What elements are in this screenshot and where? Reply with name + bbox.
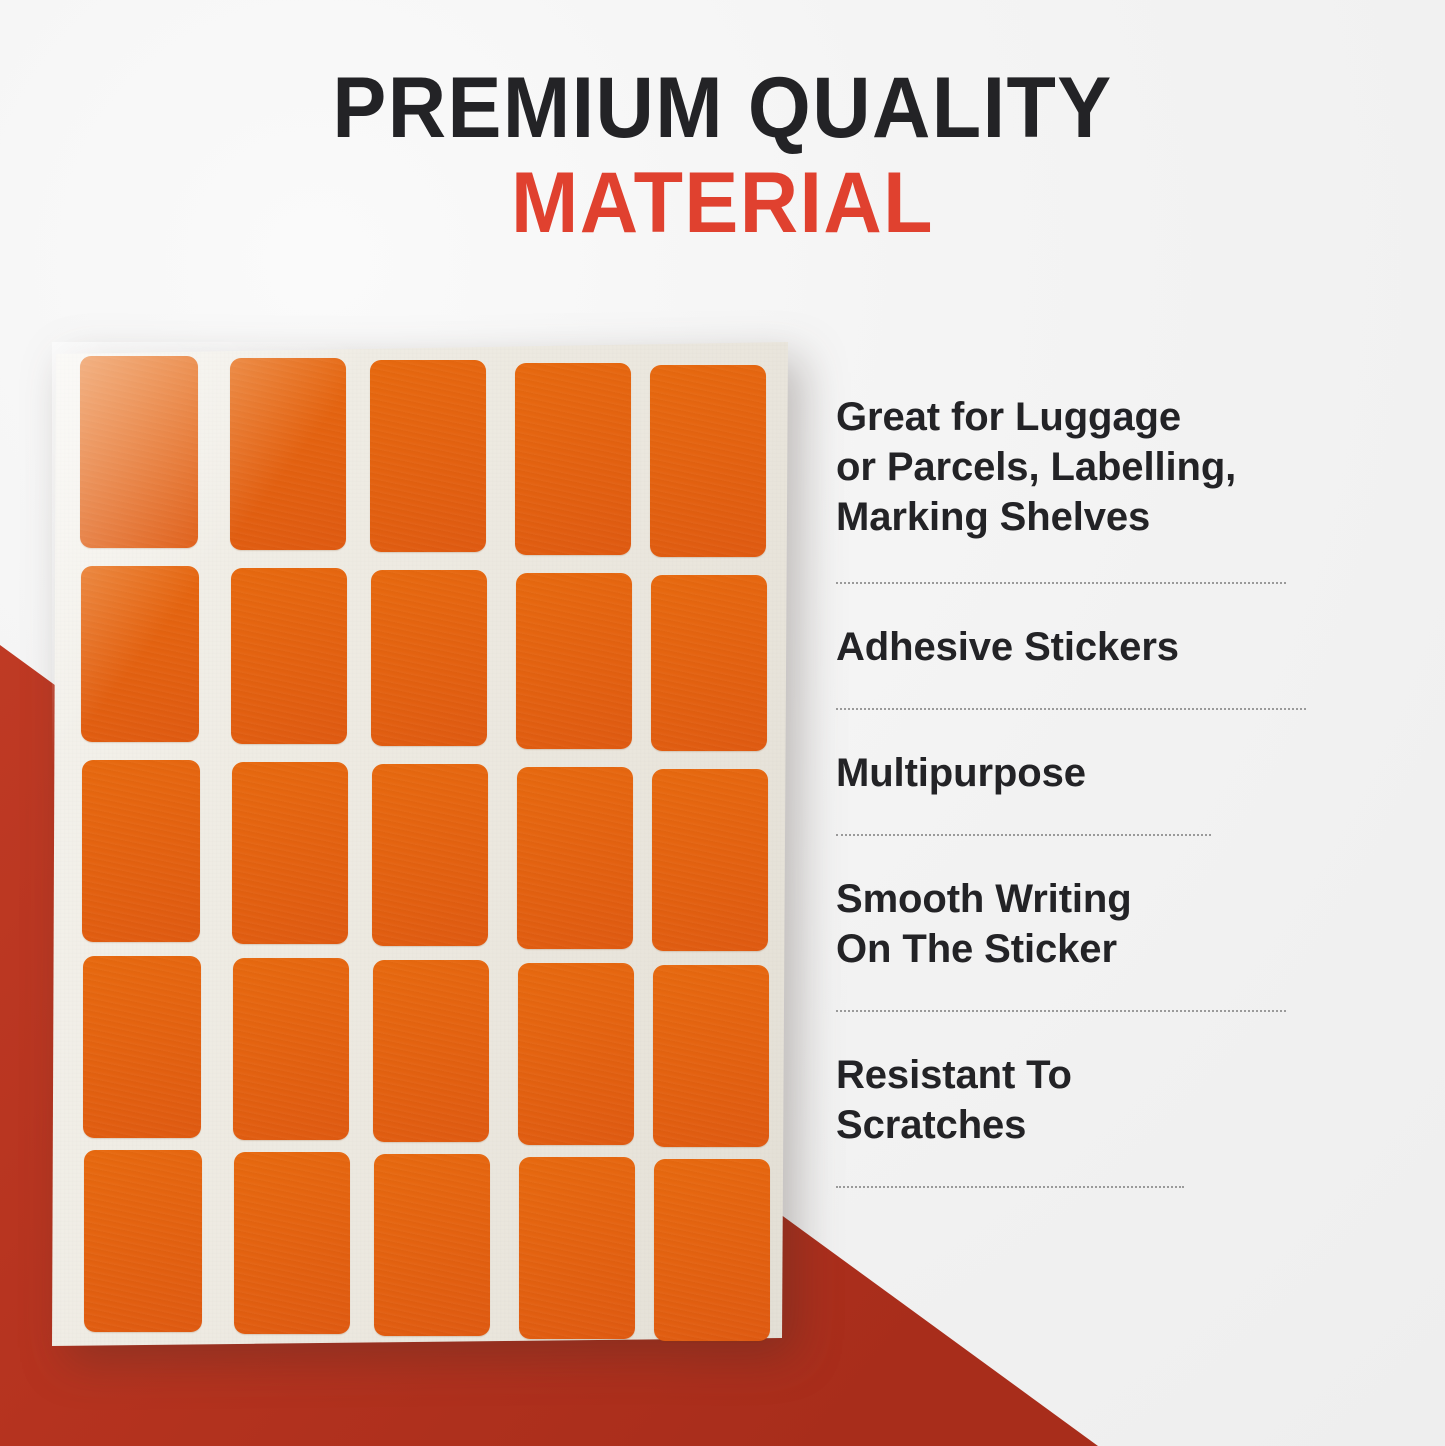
feature-item: Smooth Writing On The Sticker <box>836 874 1416 1012</box>
feature-label: Great for Luggage or Parcels, Labelling,… <box>836 392 1416 542</box>
sticker-label <box>230 358 346 550</box>
feature-item: Adhesive Stickers <box>836 622 1416 710</box>
sticker-label <box>371 570 487 746</box>
sticker-label <box>651 575 767 751</box>
sticker-sheet-photo <box>52 342 792 1346</box>
feature-label: Smooth Writing On The Sticker <box>836 874 1416 974</box>
sticker-label <box>516 573 632 749</box>
feature-list: Great for Luggage or Parcels, Labelling,… <box>836 392 1416 1226</box>
sticker-label <box>373 960 489 1142</box>
feature-label: Multipurpose <box>836 748 1416 798</box>
feature-item: Multipurpose <box>836 748 1416 836</box>
sticker-label <box>82 760 200 942</box>
feature-separator <box>836 708 1306 710</box>
sticker-label <box>83 956 201 1138</box>
feature-separator <box>836 1186 1184 1188</box>
sticker-label <box>234 1152 350 1334</box>
infographic-canvas: PREMIUM QUALITY MATERIAL Great for Lugga… <box>0 0 1445 1446</box>
sticker-label <box>84 1150 202 1332</box>
sticker-label <box>80 356 198 548</box>
sticker-label <box>515 363 631 555</box>
feature-item: Great for Luggage or Parcels, Labelling,… <box>836 392 1416 584</box>
sticker-label <box>653 965 769 1147</box>
page-title: PREMIUM QUALITY MATERIAL <box>0 60 1445 250</box>
sticker-label <box>652 769 768 951</box>
sticker-label <box>517 767 633 949</box>
feature-separator <box>836 834 1211 836</box>
feature-label: Resistant To Scratches <box>836 1050 1416 1150</box>
sticker-label <box>372 764 488 946</box>
sticker-label <box>650 365 766 557</box>
feature-label: Adhesive Stickers <box>836 622 1416 672</box>
sticker-grid <box>52 342 792 1346</box>
sticker-label <box>654 1159 770 1341</box>
feature-item: Resistant To Scratches <box>836 1050 1416 1188</box>
sticker-label <box>81 566 199 742</box>
title-line-accent: MATERIAL <box>43 156 1401 250</box>
sticker-label <box>232 762 348 944</box>
sticker-label <box>233 958 349 1140</box>
sticker-label <box>374 1154 490 1336</box>
feature-separator <box>836 1010 1286 1012</box>
sticker-label <box>370 360 486 552</box>
sticker-label <box>231 568 347 744</box>
sticker-label <box>518 963 634 1145</box>
sticker-label <box>519 1157 635 1339</box>
feature-separator <box>836 582 1286 584</box>
title-line-primary: PREMIUM QUALITY <box>43 60 1401 156</box>
